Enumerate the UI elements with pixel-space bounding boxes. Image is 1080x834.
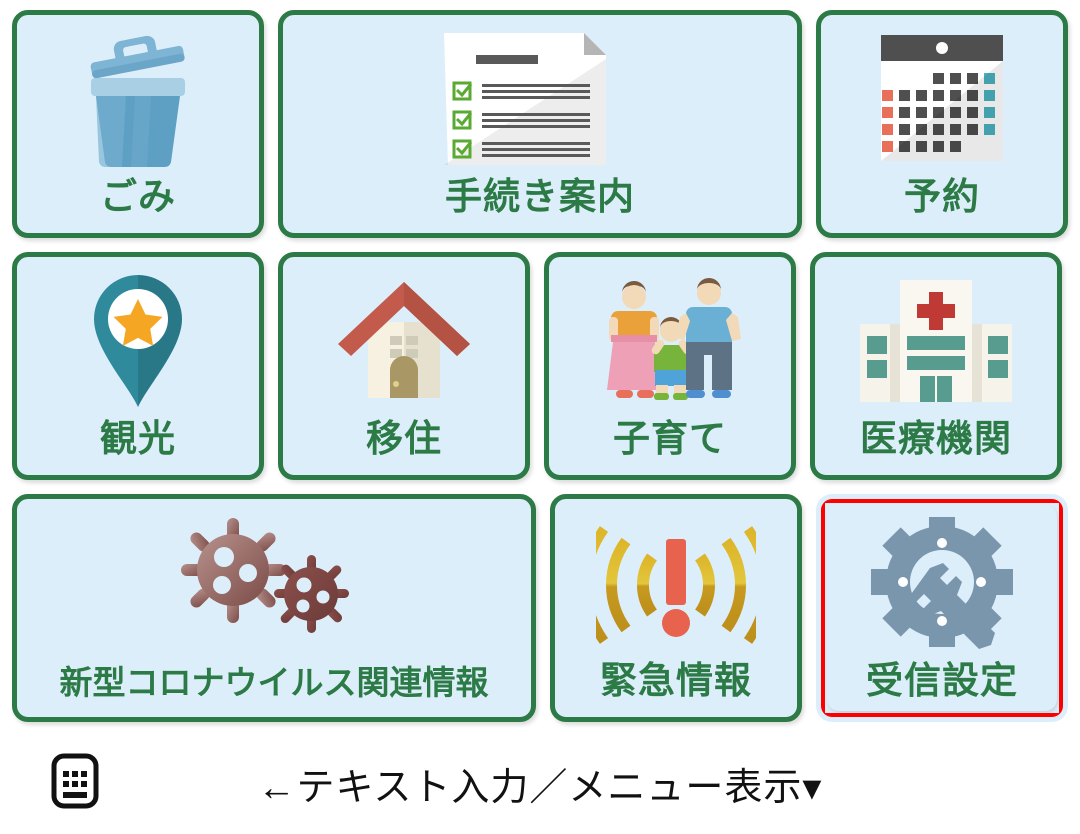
- menu-card-label: 予約: [904, 178, 980, 227]
- menu-card-label: 手続き案内: [445, 178, 635, 227]
- bottom-bar: ←テキスト入力／メニュー表示▾: [0, 730, 1080, 834]
- menu-row-1: ごみ: [12, 10, 1068, 238]
- trash-can-icon: [17, 15, 259, 178]
- menu-card-iryo-kikan[interactable]: 医療機関: [810, 252, 1062, 480]
- document-checklist-icon: [283, 15, 797, 178]
- menu-card-label: 移住: [366, 420, 442, 469]
- menu-card-label: 受信設定: [866, 662, 1018, 711]
- menu-card-tetsuzuki-annai[interactable]: 手続き案内: [278, 10, 802, 238]
- map-pin-star-icon: [17, 257, 259, 420]
- menu-card-jushin-settei[interactable]: 受信設定: [816, 494, 1068, 722]
- menu-card-label: 観光: [100, 420, 176, 469]
- menu-card-label: 医療機関: [860, 420, 1012, 469]
- virus-icon: [17, 499, 531, 666]
- rich-menu-root: ごみ: [0, 0, 1080, 834]
- emergency-alert-icon: [555, 499, 797, 662]
- menu-card-kosodate[interactable]: 子育て: [544, 252, 796, 480]
- menu-card-kanko[interactable]: 観光: [12, 252, 264, 480]
- menu-card-iju[interactable]: 移住: [278, 252, 530, 480]
- menu-card-label: 新型コロナウイルス関連情報: [60, 666, 489, 711]
- calendar-icon: [821, 15, 1063, 178]
- menu-card-label: ごみ: [100, 178, 176, 227]
- menu-card-kinkyu-joho[interactable]: 緊急情報: [550, 494, 802, 722]
- menu-grid: ごみ: [0, 0, 1080, 730]
- menu-row-3: 新型コロナウイルス関連情報: [12, 494, 1068, 722]
- menu-card-label: 子育て: [613, 420, 727, 469]
- menu-toggle-hint[interactable]: ←テキスト入力／メニュー表示▾: [0, 756, 1080, 811]
- menu-row-2: 観光: [12, 252, 1068, 480]
- menu-card-gomi[interactable]: ごみ: [12, 10, 264, 238]
- menu-card-label: 緊急情報: [600, 662, 752, 711]
- hospital-icon: [815, 257, 1057, 420]
- gear-wrench-icon: [821, 499, 1063, 662]
- family-icon: [549, 257, 791, 420]
- menu-card-yoyaku[interactable]: 予約: [816, 10, 1068, 238]
- menu-card-covid-info[interactable]: 新型コロナウイルス関連情報: [12, 494, 536, 722]
- house-icon: [283, 257, 525, 420]
